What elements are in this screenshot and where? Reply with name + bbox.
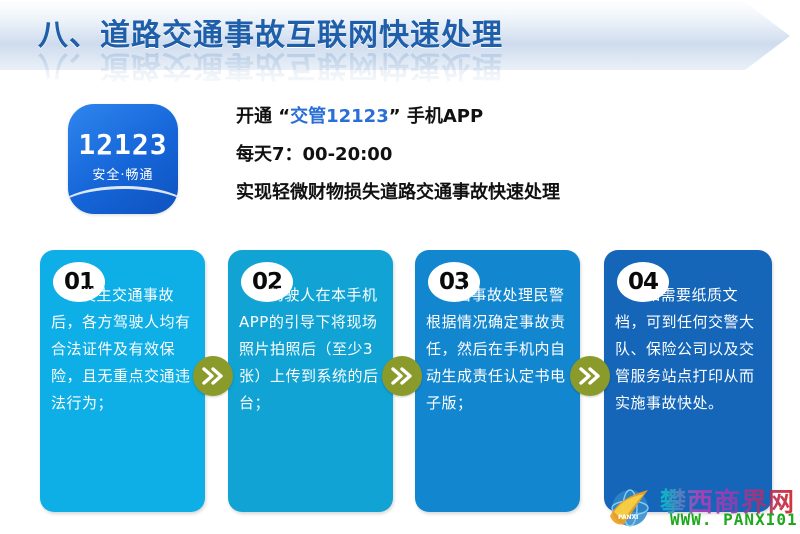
step-text-04: 如需要纸质文档，可到任何交警大队、保险公司以及交管服务站点打印从而实施事故快处。	[615, 282, 763, 417]
step-card-02[interactable]: 02 驾驶人在本手机APP的引导下将现场照片拍照后（至少3张）上传到系统的后台；	[228, 250, 393, 512]
step-card-03[interactable]: 03 由事故处理民警根据情况确定事故责任，然后在手机内自动生成责任认定书电子版；	[415, 250, 580, 512]
double-chevron-right-icon	[578, 365, 602, 387]
step-connector-1-2	[193, 356, 233, 396]
double-chevron-right-icon	[390, 365, 414, 387]
double-chevron-right-icon	[201, 365, 225, 387]
step-card-01[interactable]: 01 发生交通事故后，各方驾驶人均有合法证件及有效保险，且无重点交通违法行为；	[40, 250, 205, 512]
steps-row: 01 发生交通事故后，各方驾驶人均有合法证件及有效保险，且无重点交通违法行为； …	[0, 0, 800, 533]
step-card-04[interactable]: 04 如需要纸质文档，可到任何交警大队、保险公司以及交管服务站点打印从而实施事故…	[604, 250, 772, 512]
step-connector-2-3	[382, 356, 422, 396]
step-text-02: 驾驶人在本手机APP的引导下将现场照片拍照后（至少3张）上传到系统的后台；	[239, 282, 384, 417]
step-text-01: 发生交通事故后，各方驾驶人均有合法证件及有效保险，且无重点交通违法行为；	[51, 282, 196, 417]
step-text-03: 由事故处理民警根据情况确定事故责任，然后在手机内自动生成责任认定书电子版；	[426, 282, 571, 417]
step-connector-3-4	[570, 356, 610, 396]
